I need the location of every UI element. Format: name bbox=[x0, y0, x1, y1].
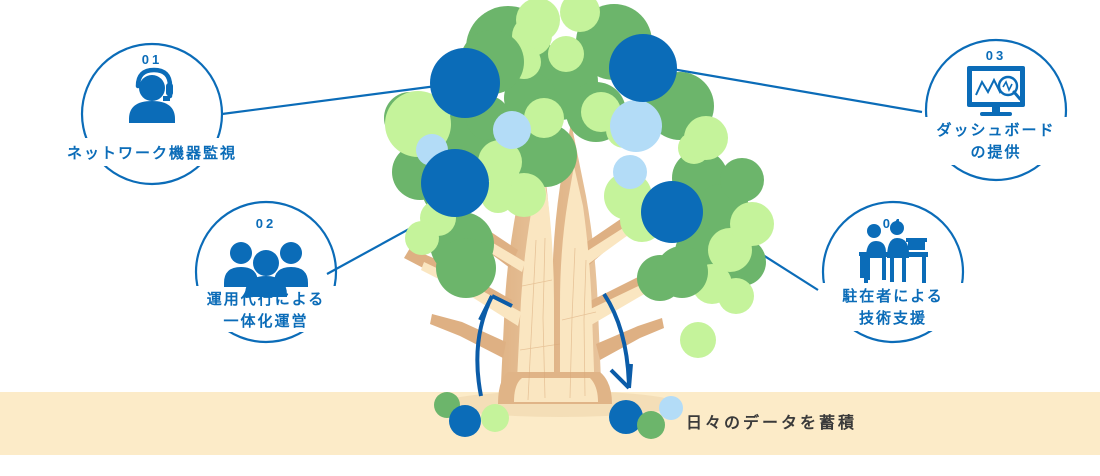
node-03-hit-area[interactable] bbox=[926, 40, 1066, 180]
node-02-hit-area[interactable] bbox=[196, 202, 336, 342]
tree-node-circle-03[interactable] bbox=[609, 34, 677, 102]
node-04-hit-area[interactable] bbox=[823, 202, 963, 342]
tree-node-circle-01[interactable] bbox=[430, 48, 500, 118]
tree-node-circle-04[interactable] bbox=[641, 181, 703, 243]
seed-green-right bbox=[637, 411, 665, 439]
diagram-canvas: 01 ネットワーク機器監視 02 運用代行による 一体化運営 03 ダッシュボー… bbox=[0, 0, 1100, 476]
ground-caption: 日々のデータを蓄積 bbox=[686, 409, 857, 433]
tree-node-circle-02[interactable] bbox=[421, 149, 489, 217]
seed-lightblue-right bbox=[659, 396, 683, 420]
seed-lightgreen-left bbox=[481, 404, 509, 432]
seed-blue-left bbox=[449, 405, 481, 437]
node-01-hit-area[interactable] bbox=[82, 44, 222, 184]
